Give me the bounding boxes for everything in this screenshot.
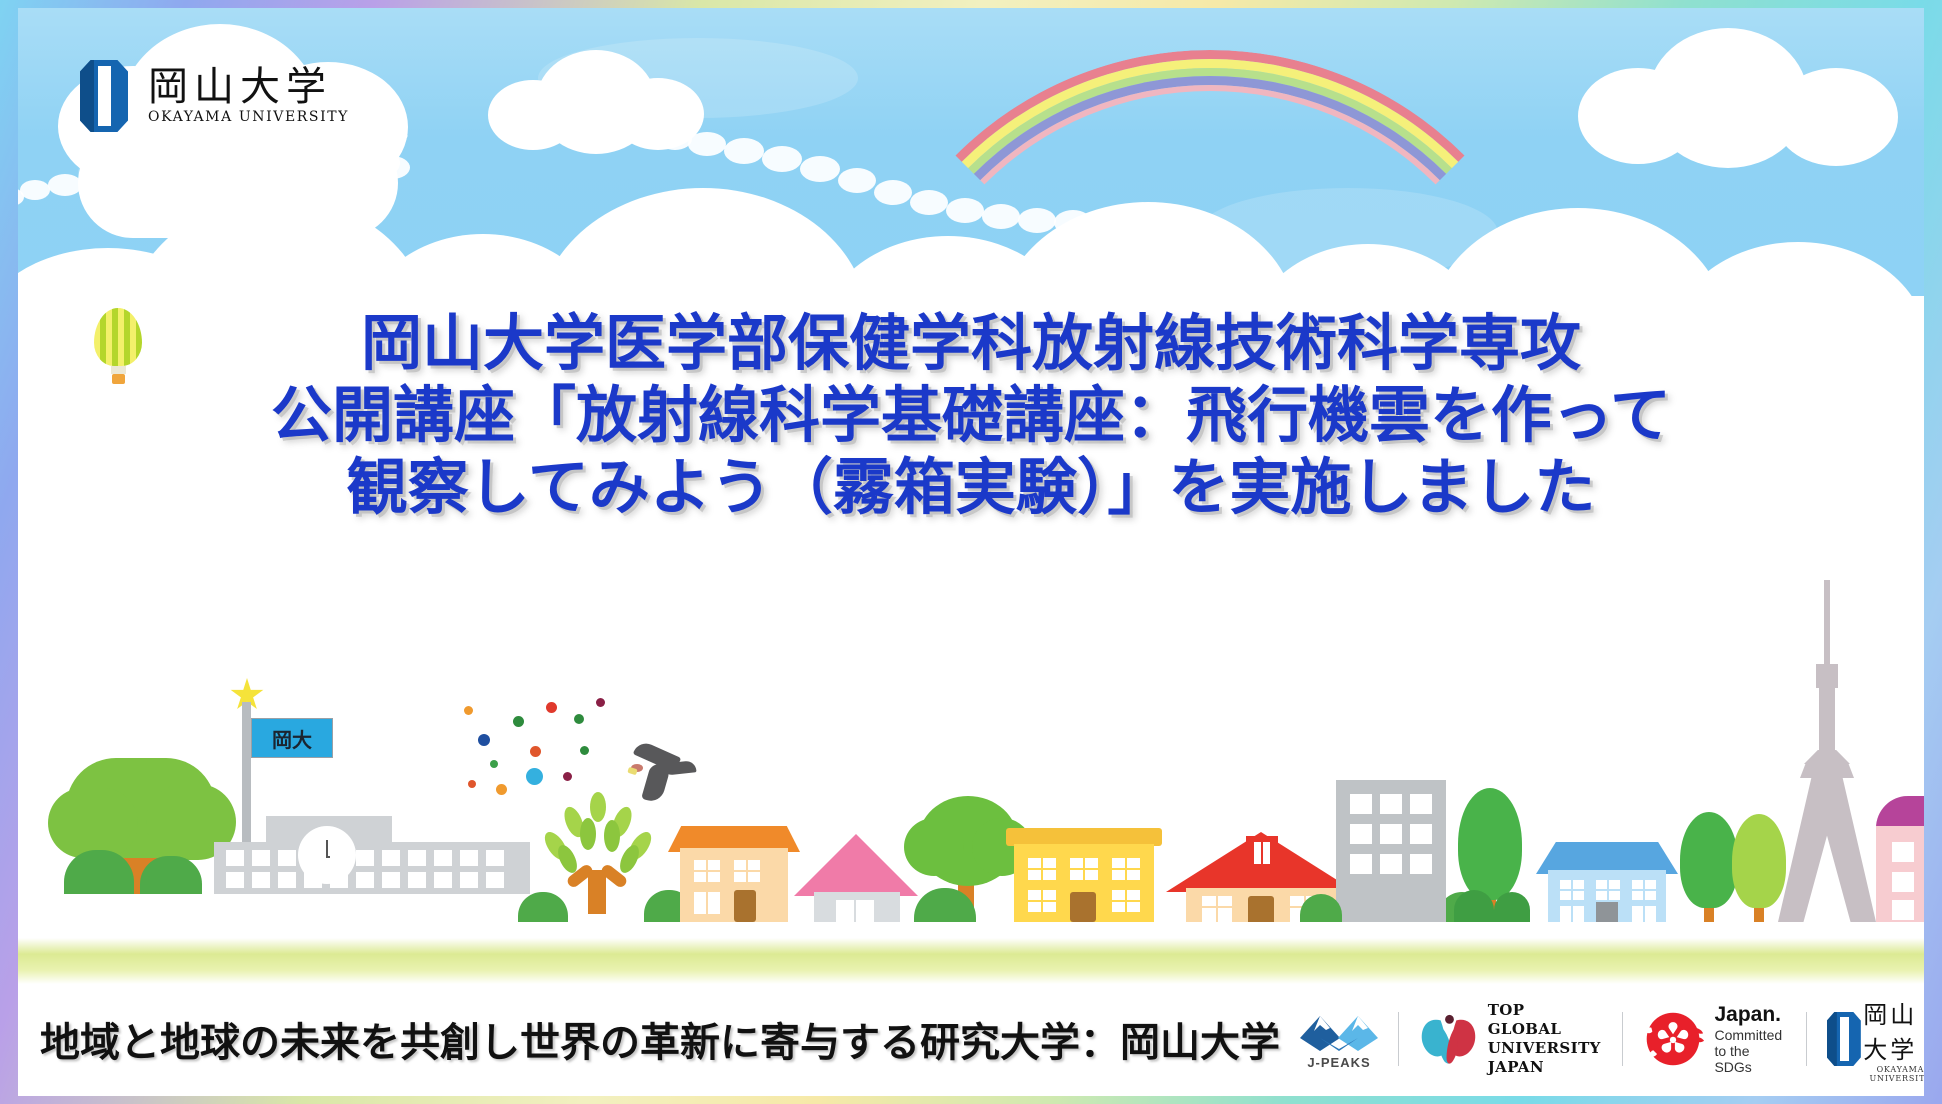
tgu-line3: JAPAN bbox=[1488, 1058, 1602, 1077]
sky-background bbox=[18, 8, 1924, 296]
jpeaks-label: J-PEAKS bbox=[1307, 1055, 1370, 1070]
tgu-line2: UNIVERSITY bbox=[1488, 1039, 1602, 1058]
top-global-university-logo: TOP GLOBAL UNIVERSITY JAPAN bbox=[1399, 1006, 1622, 1072]
okayama-university-logo: 岡山大学 OKAYAMA UNIVERSITY bbox=[80, 60, 349, 132]
title-line-2: 公開講座「放射線科学基礎講座：飛行機雲を作って bbox=[18, 380, 1924, 452]
sakura-circle-icon bbox=[1642, 1007, 1704, 1071]
poster-root: 岡山大学医学部保健学科放射線技術科学専攻 公開講座「放射線科学基礎講座：飛行機雲… bbox=[0, 0, 1942, 1104]
tgu-line1: TOP GLOBAL bbox=[1488, 1001, 1602, 1039]
butterfly-icon bbox=[1419, 1010, 1478, 1068]
swallow-icon bbox=[628, 744, 698, 800]
footer-bar: 地域と地球の未来を共創し世界の革新に寄与する研究大学：岡山大学 J-PEAKS bbox=[18, 996, 1924, 1082]
hot-air-balloon-icon bbox=[94, 308, 142, 384]
sdgs-line3: to the SDGs bbox=[1714, 1043, 1786, 1075]
jpeaks-logo: J-PEAKS bbox=[1280, 1006, 1398, 1072]
sdgs-line2: Committed bbox=[1714, 1027, 1786, 1043]
okayama-logo-mark bbox=[80, 60, 128, 132]
okayama-footer-logo: 岡山大学 OKAYAMA UNIVERSITY bbox=[1807, 1006, 1924, 1072]
footer-tagline: 地域と地球の未来を共創し世界の革新に寄与する研究大学：岡山大学 bbox=[40, 1010, 1280, 1068]
japan-sdgs-logo: Japan. Committed to the SDGs bbox=[1622, 1006, 1806, 1072]
townscape: 岡大 bbox=[18, 684, 1924, 984]
footer-logo-strip: J-PEAKS TOP GLOBAL UNIVERSITY JAPAN bbox=[1280, 996, 1924, 1082]
flag-label: 岡大 bbox=[251, 718, 333, 758]
okayama-footer-mark bbox=[1827, 1012, 1849, 1066]
poster-inner: 岡山大学医学部保健学科放射線技術科学専攻 公開講座「放射線科学基礎講座：飛行機雲… bbox=[18, 8, 1924, 1096]
page-title: 岡山大学医学部保健学科放射線技術科学専攻 公開講座「放射線科学基礎講座：飛行機雲… bbox=[18, 308, 1924, 524]
ground-strip bbox=[18, 938, 1924, 984]
okayama-footer-en: OKAYAMA UNIVERSITY bbox=[1863, 1065, 1924, 1083]
okayama-logo-en: OKAYAMA UNIVERSITY bbox=[148, 109, 349, 125]
okayama-logo-jp: 岡山大学 bbox=[148, 67, 349, 107]
title-line-1: 岡山大学医学部保健学科放射線技術科学専攻 bbox=[18, 308, 1924, 380]
mountain-icon bbox=[1300, 1008, 1378, 1052]
okayama-footer-jp: 岡山大学 bbox=[1863, 995, 1924, 1065]
sdgs-line1: Japan. bbox=[1714, 1003, 1786, 1027]
title-line-3: 観察してみよう（霧箱実験）」を実施しました bbox=[18, 452, 1924, 524]
shrub bbox=[518, 892, 568, 922]
